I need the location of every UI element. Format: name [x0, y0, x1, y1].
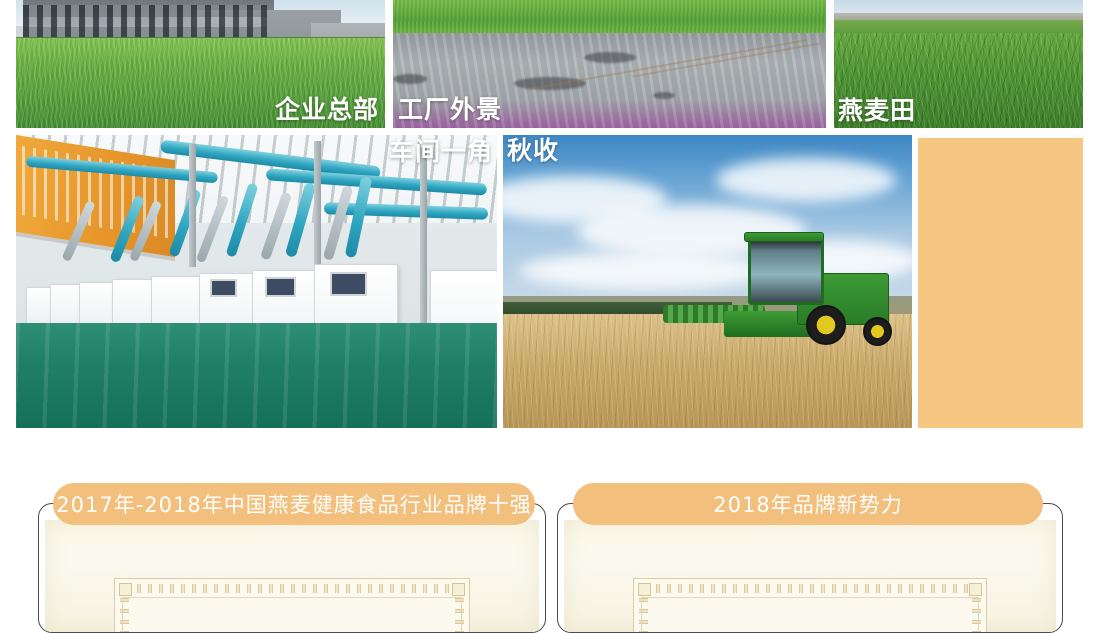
gallery-tile-oat-field[interactable]: 燕麦田	[834, 0, 1083, 128]
gallery-tile-factory-exterior[interactable]: 工厂外景	[393, 0, 826, 128]
certificate-image-2	[564, 520, 1056, 632]
gallery-caption-harvest: 秋收	[507, 138, 559, 163]
harvest-photo	[503, 135, 912, 428]
gallery-tile-harvest[interactable]: 秋收	[503, 135, 912, 428]
award-title-1: 2017年-2018年中国燕麦健康食品行业品牌十强	[53, 483, 535, 525]
award-title-2: 2018年品牌新势力	[573, 483, 1043, 525]
workshop-photo	[16, 135, 497, 428]
gallery-tile-workshop[interactable]: 车间一角	[16, 135, 497, 428]
gallery-caption-workshop: 车间一角	[389, 139, 493, 164]
gallery-tile-headquarters[interactable]: 企业总部	[16, 0, 385, 128]
gallery-caption-headquarters: 企业总部	[275, 97, 379, 122]
gallery-tile-placeholder-panel[interactable]	[918, 138, 1083, 428]
gallery-caption-factory-exterior: 工厂外景	[398, 97, 502, 122]
gallery-caption-oat-field: 燕麦田	[838, 98, 916, 123]
certificate-image-1	[45, 520, 539, 632]
page-root: 企业总部 工厂外景 燕麦田	[0, 0, 1100, 613]
